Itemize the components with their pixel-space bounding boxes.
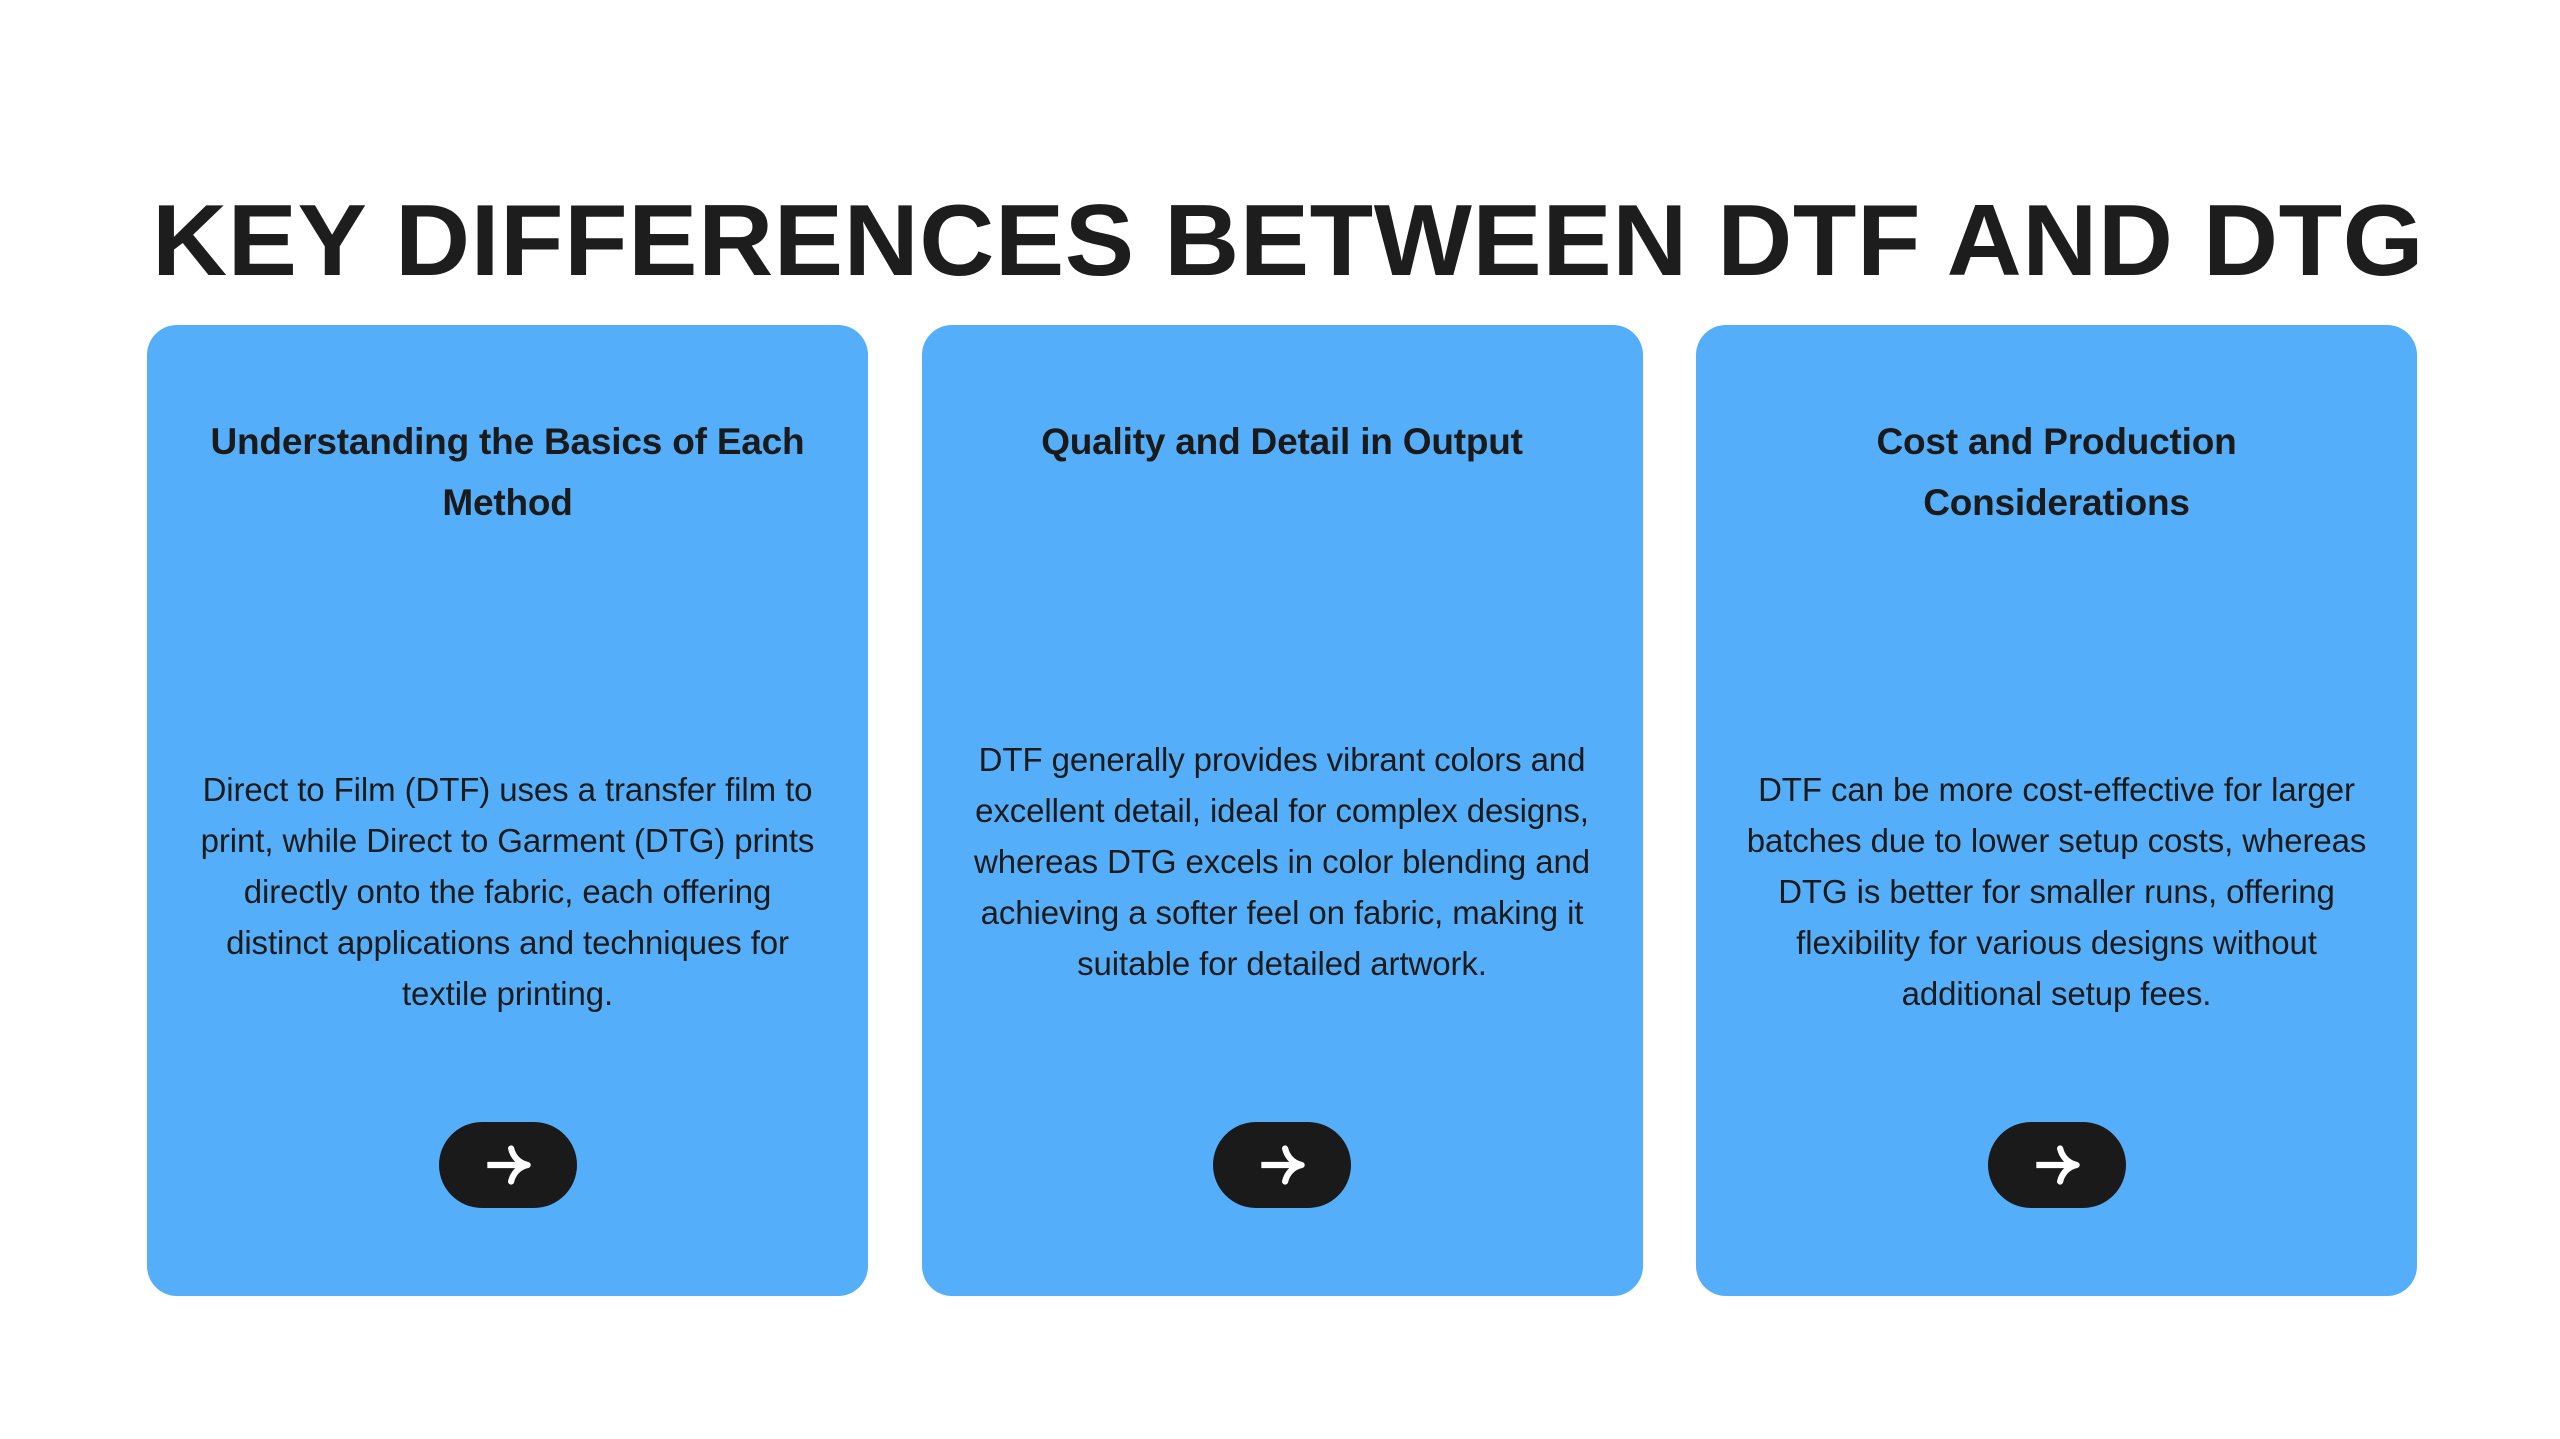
arrow-right-icon (1251, 1134, 1313, 1196)
card-cta-button[interactable] (1213, 1122, 1351, 1208)
card-heading: Understanding the Basics of Each Method (193, 411, 822, 533)
card-cta-button[interactable] (1988, 1122, 2126, 1208)
page-title: KEY DIFFERENCES BETWEEN DTF AND DTG (152, 186, 2490, 296)
infographic-page: KEY DIFFERENCES BETWEEN DTF AND DTG Unde… (0, 0, 2560, 1439)
card-body-container: DTF can be more cost-effective for large… (1742, 641, 2371, 1141)
card-body-text: Direct to Film (DTF) uses a transfer fil… (193, 764, 822, 1019)
info-card: Quality and Detail in Output DTF general… (922, 325, 1643, 1296)
card-body-text: DTF generally provides vibrant colors an… (968, 734, 1597, 989)
card-body-text: DTF can be more cost-effective for large… (1742, 764, 2371, 1019)
card-heading: Cost and Production Considerations (1742, 411, 2371, 533)
arrow-right-icon (2026, 1134, 2088, 1196)
cards-row: Understanding the Basics of Each Method … (147, 325, 2417, 1296)
card-cta-button[interactable] (439, 1122, 577, 1208)
arrow-right-icon (477, 1134, 539, 1196)
card-heading: Quality and Detail in Output (968, 411, 1597, 472)
info-card: Understanding the Basics of Each Method … (147, 325, 868, 1296)
card-body-container: Direct to Film (DTF) uses a transfer fil… (193, 641, 822, 1141)
info-card: Cost and Production Considerations DTF c… (1696, 325, 2417, 1296)
card-body-container: DTF generally provides vibrant colors an… (968, 611, 1597, 1111)
